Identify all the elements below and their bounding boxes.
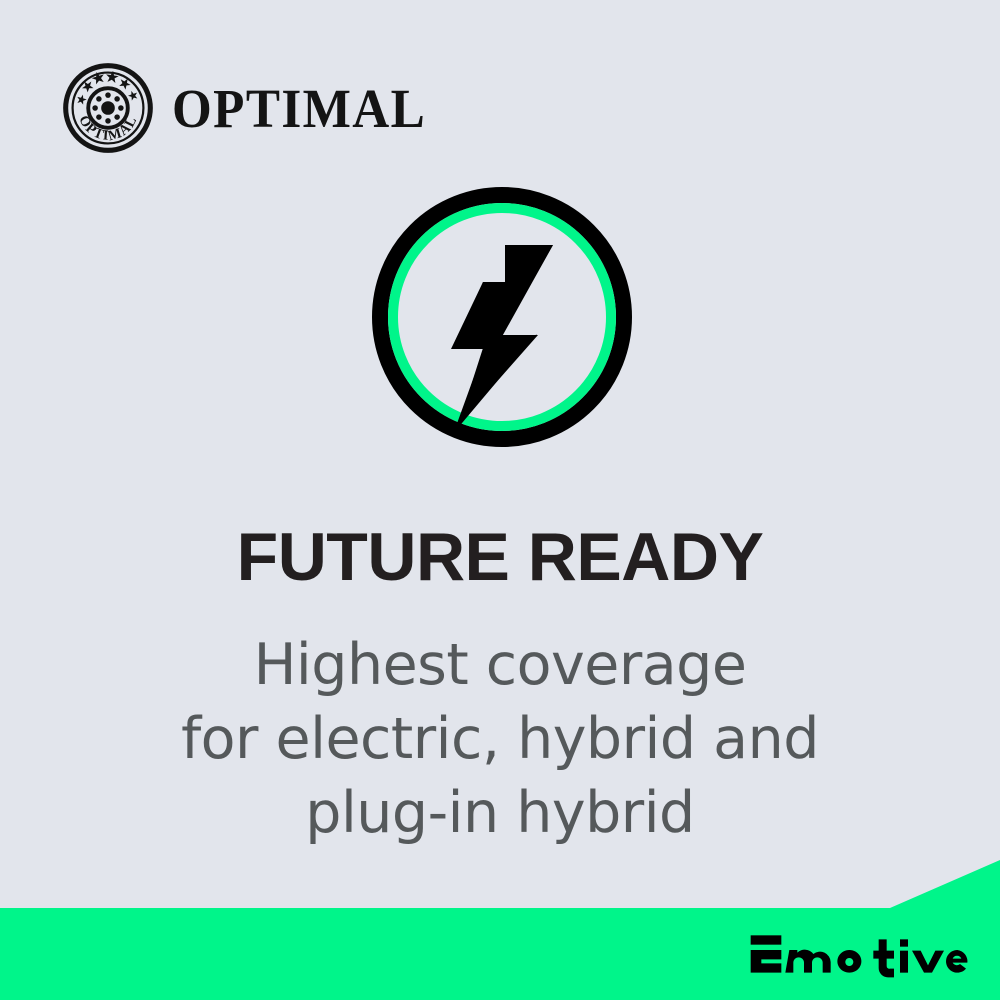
- subtitle-line-1: Highest coverage: [0, 628, 1000, 702]
- emotive-logo: [748, 930, 968, 982]
- optimal-badge-icon: OPTIMAL: [62, 62, 154, 154]
- poster-canvas: OPTIMAL OPTIMAL: [0, 0, 1000, 1000]
- brand-wordmark: OPTIMAL: [172, 81, 426, 136]
- subtitle-line-3: plug-in hybrid: [0, 776, 1000, 850]
- brand-lockup: OPTIMAL OPTIMAL: [62, 62, 445, 154]
- page-subtitle: Highest coverage for electric, hybrid an…: [0, 628, 1000, 850]
- footer-banner: [0, 860, 1000, 1000]
- emotive-wordmark-logo: [748, 930, 968, 982]
- subtitle-line-2: for electric, hybrid and: [0, 702, 1000, 776]
- page-title: FUTURE READY: [0, 523, 1000, 591]
- lightning-bolt-circle-icon: [371, 182, 633, 452]
